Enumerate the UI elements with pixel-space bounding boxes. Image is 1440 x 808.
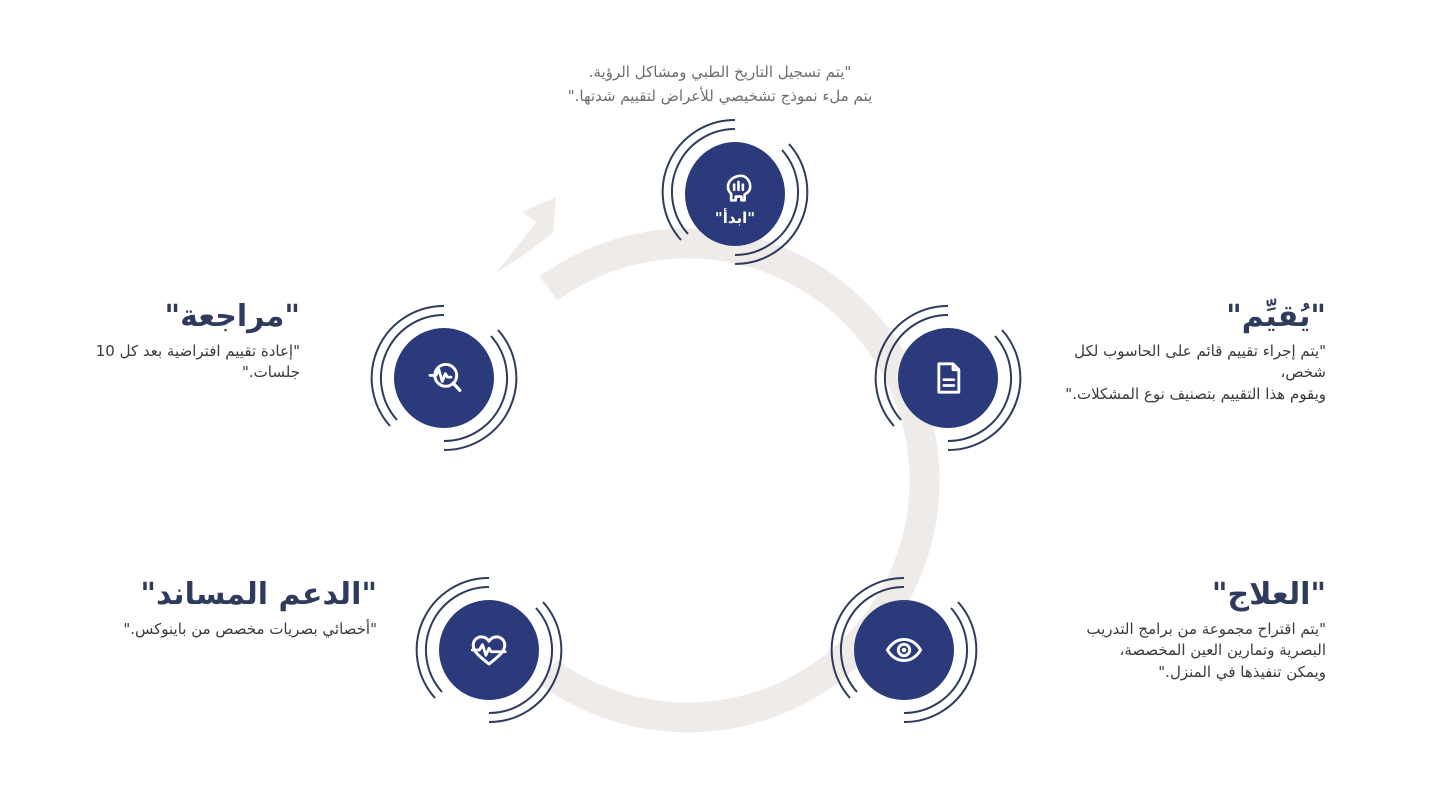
- node-treatment-disc[interactable]: [854, 600, 954, 700]
- label-treatment: "العلاج" "يتم اقتراح مجموعة من برامج الت…: [1036, 578, 1326, 684]
- label-support-title: "الدعم المساند": [82, 578, 377, 613]
- ring-arrowhead: [497, 197, 556, 272]
- node-start-caption: "ابدأ": [715, 211, 755, 226]
- node-support-disc[interactable]: [439, 600, 539, 700]
- document-icon: [928, 358, 968, 398]
- node-review[interactable]: [364, 298, 524, 458]
- head-brain-icon: [714, 167, 756, 209]
- node-start-disc[interactable]: "ابدأ": [685, 142, 785, 246]
- heart-pulse-icon: [468, 629, 510, 671]
- magnifier-pulse-icon: [423, 357, 465, 399]
- eye-icon: [883, 629, 925, 671]
- node-assess[interactable]: [868, 298, 1028, 458]
- label-review: "مراجعة" "إعادة تقييم افتراضية بعد كل 10…: [82, 300, 300, 384]
- label-review-desc: "إعادة تقييم افتراضية بعد كل 10 جلسات.": [82, 341, 300, 385]
- label-treatment-desc: "يتم اقتراح مجموعة من برامج التدريب البص…: [1036, 619, 1326, 684]
- cycle-diagram: "يتم تسجيل التاريخ الطبي ومشاكل الرؤية. …: [0, 0, 1440, 808]
- label-support-desc: "أخصائي بصريات مخصص من باينوكس.": [82, 619, 377, 641]
- label-support: "الدعم المساند" "أخصائي بصريات مخصص من ب…: [82, 578, 377, 640]
- node-assess-disc[interactable]: [898, 328, 998, 428]
- label-treatment-title: "العلاج": [1036, 578, 1326, 613]
- label-assess: "يُقيِّم" "يتم إجراء تقييم قائم على الحا…: [1036, 300, 1326, 406]
- top-caption: "يتم تسجيل التاريخ الطبي ومشاكل الرؤية. …: [0, 60, 1440, 108]
- node-start[interactable]: "ابدأ": [655, 112, 815, 272]
- node-support[interactable]: [409, 570, 569, 730]
- node-review-disc[interactable]: [394, 328, 494, 428]
- node-treatment[interactable]: [824, 570, 984, 730]
- label-assess-desc: "يتم إجراء تقييم قائم على الحاسوب لكل شخ…: [1036, 341, 1326, 406]
- label-assess-title: "يُقيِّم": [1036, 300, 1326, 335]
- label-review-title: "مراجعة": [82, 300, 300, 335]
